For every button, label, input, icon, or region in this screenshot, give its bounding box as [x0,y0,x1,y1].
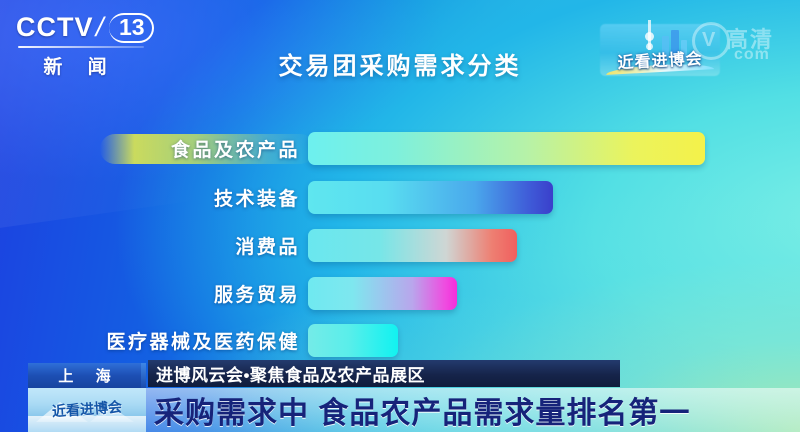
chart-row: 技术装备 [0,177,800,217]
chart-row-label-wrap: 食品及农产品 [171,128,308,168]
headline-bar: 采购需求中 食品农产品需求量排名第一 [146,388,800,432]
chart-row: 消费品 [0,225,800,265]
bar-track [308,229,517,262]
chart-row-label-wrap: 技术装备 [214,177,308,217]
bar-label-medical-devices: 医疗器械及医药保健 [106,327,300,354]
cctv-slash-divider: / [92,12,106,43]
program-logo: 近看进博会 [600,24,720,76]
bar-track [308,324,398,357]
bar-label-consumer-goods: 消费品 [235,232,300,259]
program-logo-bottom: 近看进博会 [28,388,146,432]
location-badge: 上 海 [28,363,141,388]
bar-medical-devices [308,324,398,357]
subtitle-text: 进博风云会•聚焦食品及农产品展区 [156,361,425,386]
bar-label-service-trade: 服务贸易 [214,280,300,307]
subtitle-bar: 进博风云会•聚焦食品及农产品展区 [148,360,620,387]
chart-row-label-wrap: 消费品 [235,225,308,265]
bar-service-trade [308,277,457,310]
chart-row-label-wrap: 医疗器械及医药保健 [106,320,308,360]
chart-row: 医疗器械及医药保健 [0,320,800,360]
bar-label-tech-equipment: 技术装备 [214,184,300,211]
chart-row-label-wrap: 服务贸易 [214,273,308,313]
cctv-channel-number: 13 [109,13,154,43]
chart-row: 服务贸易 [0,273,800,313]
headline-text: 采购需求中 食品农产品需求量排名第一 [154,388,690,432]
location-label: 上 海 [49,365,119,386]
bar-tech-equipment [308,181,553,214]
broadcast-screen: CCTV / 13 新 闻 交易团采购需求分类 近看进博会 V 高清 com 食… [0,0,800,432]
lower-third-banner: 上 海 近看进博会 进博风云会•聚焦食品及农产品展区 采购需求中 食品农产品需求… [0,360,800,432]
bar-consumer-goods [308,229,517,262]
bar-track [308,132,705,165]
bar-label-food-agri: 食品及农产品 [171,135,300,162]
bar-track [308,277,457,310]
cctv-wordmark: CCTV [16,14,94,41]
pearl-tower-sphere-upper-icon [645,32,654,41]
bar-track [308,181,553,214]
cctv-logo-row: CCTV / 13 [16,12,156,43]
horizontal-bar-chart: 食品及农产品 技术装备 消费品 服 [0,110,800,360]
chart-row: 食品及农产品 [0,128,800,168]
bar-food-agri [308,132,705,165]
